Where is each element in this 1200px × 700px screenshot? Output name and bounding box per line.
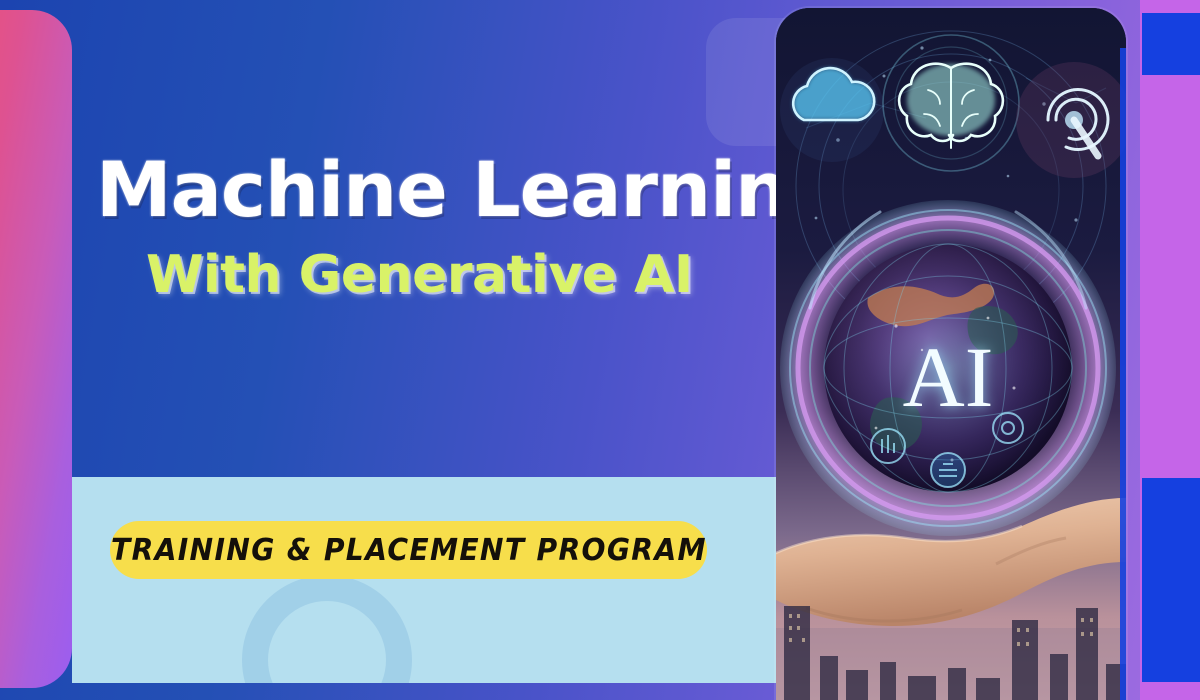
page-title: Machine Learning [96, 150, 776, 230]
decorative-ring [242, 575, 412, 683]
hero-ai-label: AI [903, 329, 994, 425]
right-accent-block-top [1142, 13, 1200, 75]
program-badge[interactable]: TRAINING & PLACEMENT PROGRAM [110, 521, 707, 579]
program-badge-label: TRAINING & PLACEMENT PROGRAM [111, 533, 707, 568]
right-accent-column [1140, 0, 1200, 700]
left-accent-strip [0, 10, 72, 688]
lower-info-band [72, 477, 778, 683]
hero-image: AI AI [776, 8, 1126, 700]
right-accent-block-bottom [1142, 478, 1200, 682]
hero-illustration: AI AI [776, 8, 1126, 700]
promo-banner: Machine Learning With Generative AI TRAI… [0, 0, 1200, 700]
cloud-icon [780, 58, 884, 162]
headline-group: Machine Learning With Generative AI [96, 150, 776, 302]
page-subtitle: With Generative AI [146, 248, 776, 303]
